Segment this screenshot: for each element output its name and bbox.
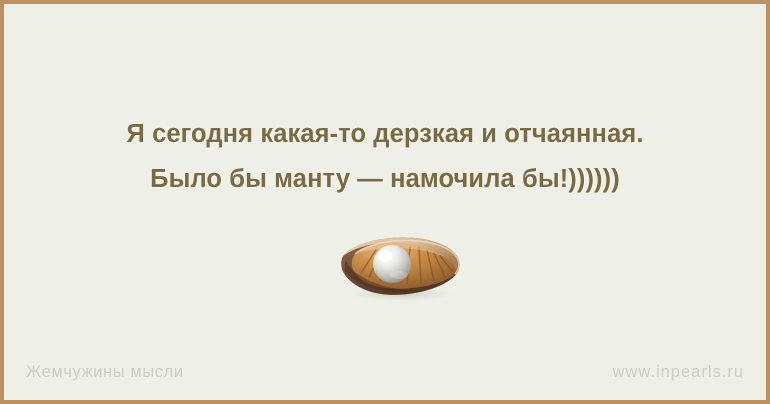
quote-line-1: Я сегодня какая-то дерзкая и отчаянная. [28, 112, 742, 157]
quote-block: Я сегодня какая-то дерзкая и отчаянная. … [4, 112, 766, 202]
oyster-shell-with-pearl-icon [331, 230, 467, 300]
footer-brand: Жемчужины мысли [26, 363, 184, 382]
footer-url[interactable]: www.inpearls.ru [613, 363, 744, 382]
footer: Жемчужины мысли www.inpearls.ru [4, 344, 766, 400]
quote-line-2: Было бы манту — намочила бы!)))))) [28, 157, 742, 202]
quote-card: Я сегодня какая-то дерзкая и отчаянная. … [0, 0, 770, 404]
